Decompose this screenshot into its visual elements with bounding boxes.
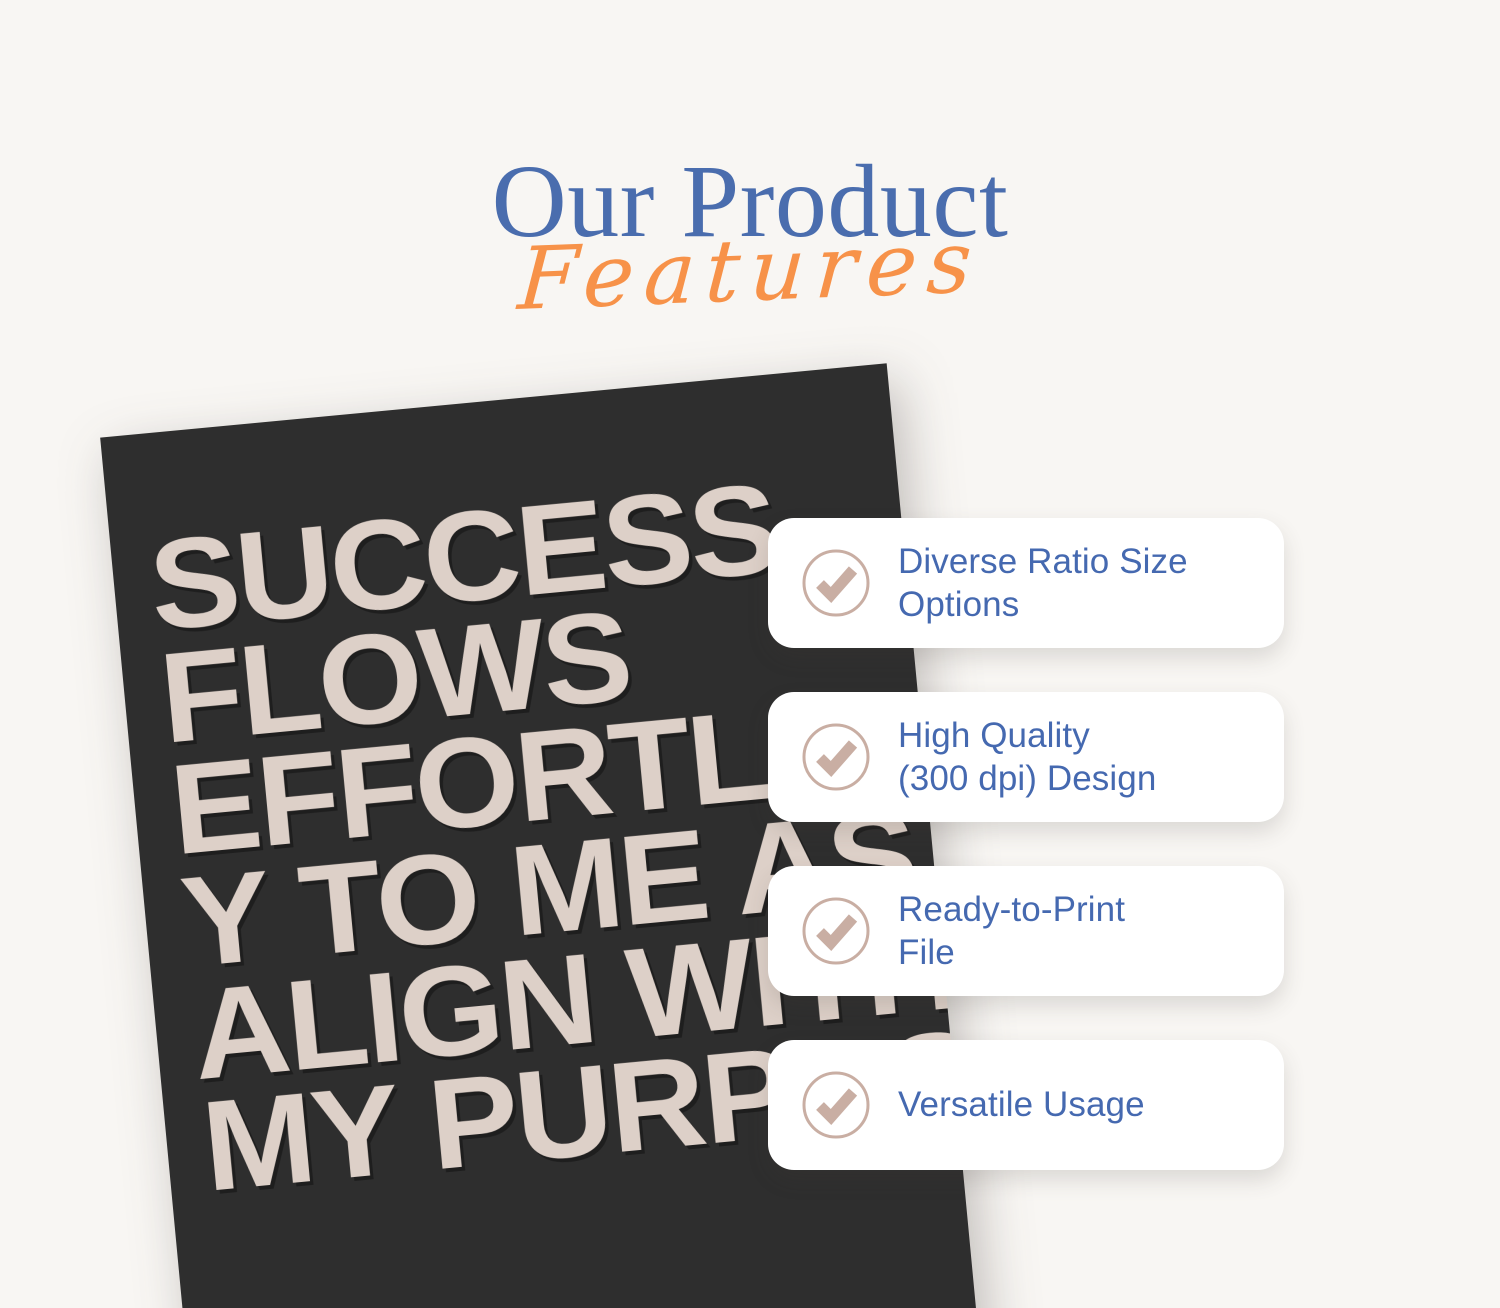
feature-card-list: Diverse Ratio Size Options High Quality … <box>768 518 1284 1214</box>
feature-card-label: Ready-to-Print File <box>898 888 1125 975</box>
feature-card[interactable]: Versatile Usage <box>768 1040 1284 1170</box>
feature-card[interactable]: High Quality (300 dpi) Design <box>768 692 1284 822</box>
check-circle-icon <box>800 895 872 967</box>
feature-card-label: High Quality (300 dpi) Design <box>898 714 1156 801</box>
feature-card-label: Versatile Usage <box>898 1083 1145 1126</box>
page-subtitle-script: Features <box>0 199 1500 343</box>
page-heading: Our Product Features <box>0 150 1500 314</box>
check-circle-icon <box>800 721 872 793</box>
page-title: Our Product <box>0 150 1500 254</box>
feature-card[interactable]: Ready-to-Print File <box>768 866 1284 996</box>
check-circle-icon <box>800 1069 872 1141</box>
promo-slide: Our Product Features SUCCESS FLOWS EFFOR… <box>0 0 1500 1308</box>
feature-card[interactable]: Diverse Ratio Size Options <box>768 518 1284 648</box>
feature-card-label: Diverse Ratio Size Options <box>898 540 1188 627</box>
check-circle-icon <box>800 547 872 619</box>
